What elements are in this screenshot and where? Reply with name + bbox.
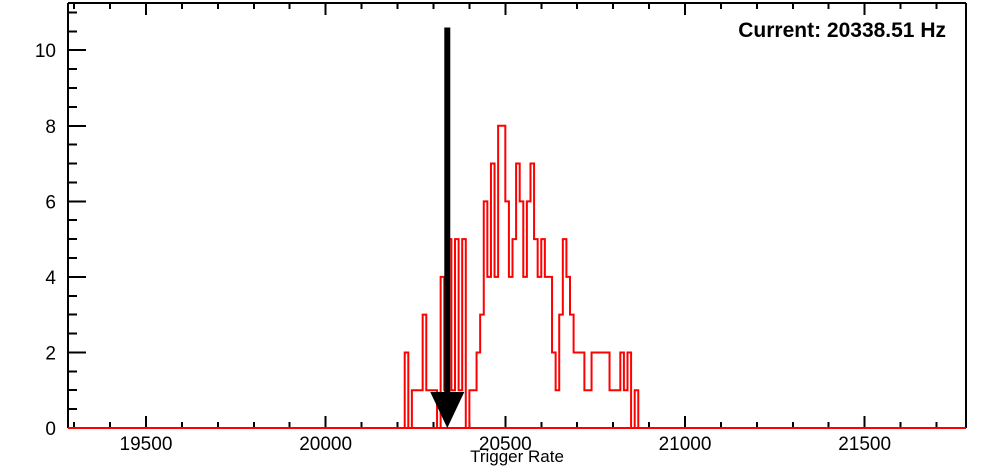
x-axis-title: Trigger Rate xyxy=(470,447,564,466)
y-axis-ticks xyxy=(68,12,86,428)
x-tick-label: 19500 xyxy=(120,434,173,455)
y-tick-label: 2 xyxy=(45,343,56,364)
current-rate-label: Current: 20338.51 Hz xyxy=(738,19,946,42)
root-canvas: 1950020000205002100021500 0246810 Trigge… xyxy=(0,0,996,472)
histogram-plot: 1950020000205002100021500 0246810 Trigge… xyxy=(0,0,996,472)
y-tick-label: 10 xyxy=(35,41,56,62)
y-tick-label: 4 xyxy=(45,268,56,289)
x-tick-label: 21500 xyxy=(838,434,891,455)
x-tick-label: 21000 xyxy=(659,434,712,455)
y-axis-tick-labels: 0246810 xyxy=(35,41,57,440)
y-tick-label: 8 xyxy=(45,117,56,138)
y-tick-label: 0 xyxy=(45,419,56,440)
y-tick-label: 6 xyxy=(45,192,56,213)
x-axis-ticks xyxy=(74,3,936,428)
x-tick-label: 20000 xyxy=(299,434,352,455)
marker-arrowhead xyxy=(430,392,464,428)
histogram-outline xyxy=(405,126,639,428)
